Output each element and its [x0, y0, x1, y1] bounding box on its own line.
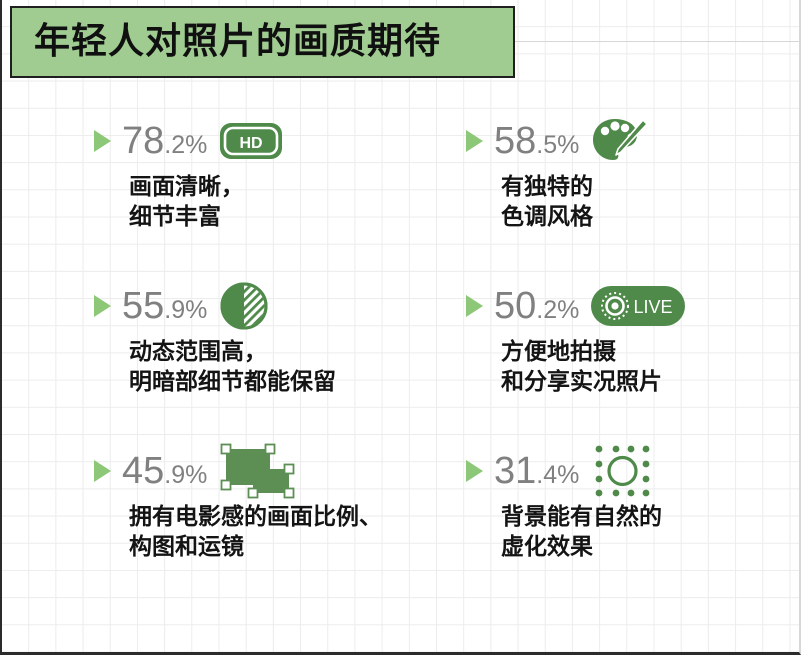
bokeh-icon [591, 442, 653, 500]
stat-description: 动态范围高， 明暗部细节都能保留 [129, 337, 466, 398]
stat-item-cinematic-framing: 45.9% [94, 448, 466, 618]
stat-percentage: 50.2% [494, 287, 579, 325]
stat-item-hd: 78.2% HD 画面清晰， 细节丰富 [94, 118, 466, 283]
stat-item-bokeh: 31.4% [466, 448, 801, 618]
stat-description: 拥有电影感的画面比例、 构图和运镜 [129, 502, 466, 563]
stat-item-live-photo: 50.2% LIVE 方便地拍摄 和分享实况照片 [466, 283, 801, 448]
banner-divider-rule [515, 41, 801, 42]
stat-row: 78.2% HD [94, 118, 466, 164]
stat-value-integer: 31 [494, 450, 536, 492]
stats-grid: 78.2% HD 画面清晰， 细节丰富 58.5% [2, 118, 801, 618]
triangle-bullet-icon [94, 130, 111, 152]
stat-value-integer: 50 [494, 285, 536, 327]
stat-value-integer: 45 [122, 450, 164, 492]
stat-item-color-style: 58.5% 有独特的 色调风格 [466, 118, 801, 283]
stat-percentage: 58.5% [494, 122, 579, 160]
stat-description: 画面清晰， 细节丰富 [129, 172, 466, 233]
crop-frames-icon [219, 443, 299, 499]
stat-description: 有独特的 色调风格 [501, 172, 801, 233]
stat-row: 58.5% [466, 118, 801, 164]
triangle-bullet-icon [94, 295, 111, 317]
stat-percentage: 78.2% [122, 122, 207, 160]
stat-value-decimal: .2% [536, 296, 579, 324]
live-badge-label: LIVE [634, 297, 673, 317]
stat-value-decimal: .4% [536, 461, 579, 489]
stat-row: 45.9% [94, 448, 466, 494]
triangle-bullet-icon [466, 130, 483, 152]
stat-row: 31.4% [466, 448, 801, 494]
stat-value-decimal: .5% [536, 131, 579, 159]
stat-description: 背景能有自然的 虚化效果 [501, 502, 801, 563]
hd-badge-label: HD [240, 135, 263, 152]
stat-row: 55.9% [94, 283, 466, 329]
triangle-bullet-icon [466, 295, 483, 317]
page-title: 年轻人对照片的画质期待 [34, 24, 441, 60]
stat-value-decimal: .9% [164, 296, 207, 324]
title-banner: 年轻人对照片的画质期待 [10, 6, 515, 78]
stat-percentage: 55.9% [122, 287, 207, 325]
live-photo-badge-icon: LIVE [591, 286, 685, 326]
dynamic-range-icon [219, 281, 269, 331]
stat-value-integer: 78 [122, 120, 164, 162]
stat-value-integer: 55 [122, 285, 164, 327]
triangle-bullet-icon [466, 460, 483, 482]
stat-description: 方便地拍摄 和分享实况照片 [501, 337, 801, 398]
stat-percentage: 31.4% [494, 452, 579, 490]
infographic-page: 年轻人对照片的画质期待 78.2% HD 画面清晰， 细节丰富 [0, 0, 801, 655]
triangle-bullet-icon [94, 460, 111, 482]
stat-value-decimal: .9% [164, 461, 207, 489]
stat-row: 50.2% LIVE [466, 283, 801, 329]
stat-value-decimal: .2% [164, 131, 207, 159]
stat-item-dynamic-range: 55.9% [94, 283, 466, 448]
stat-percentage: 45.9% [122, 452, 207, 490]
hd-badge-icon: HD [219, 122, 283, 160]
palette-icon [591, 116, 649, 166]
stat-value-integer: 58 [494, 120, 536, 162]
